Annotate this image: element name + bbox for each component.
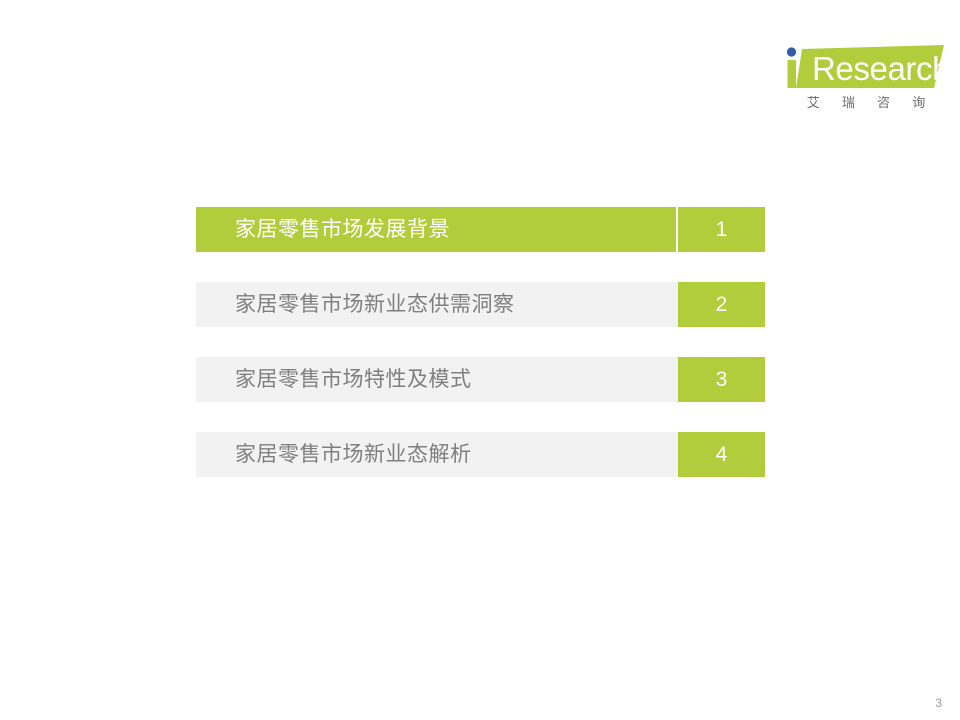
toc-item-label: 家居零售市场发展背景 bbox=[196, 207, 676, 252]
logo-wordmark: Research bbox=[812, 50, 947, 87]
toc-row[interactable]: 家居零售市场特性及模式 3 bbox=[196, 357, 765, 402]
toc-item-number: 2 bbox=[678, 282, 765, 327]
logo-subtitle: 艾 瑞 咨 询 bbox=[790, 92, 942, 111]
toc-item-number: 3 bbox=[678, 357, 765, 402]
toc-row[interactable]: 家居零售市场发展背景 1 bbox=[196, 207, 765, 252]
toc-item-label: 家居零售市场新业态供需洞察 bbox=[196, 282, 676, 327]
toc-item-label: 家居零售市场特性及模式 bbox=[196, 357, 676, 402]
table-of-contents: 家居零售市场发展背景 1 家居零售市场新业态供需洞察 2 家居零售市场特性及模式… bbox=[196, 207, 765, 477]
iresearch-logo: Research 艾 瑞 咨 询 bbox=[782, 42, 947, 114]
toc-item-number: 1 bbox=[678, 207, 765, 252]
toc-row[interactable]: 家居零售市场新业态解析 4 bbox=[196, 432, 765, 477]
toc-item-label: 家居零售市场新业态解析 bbox=[196, 432, 676, 477]
page-number: 3 bbox=[935, 696, 942, 710]
toc-row[interactable]: 家居零售市场新业态供需洞察 2 bbox=[196, 282, 765, 327]
toc-item-number: 4 bbox=[678, 432, 765, 477]
slide-canvas: Research 艾 瑞 咨 询 家居零售市场发展背景 1 家居零售市场新业态供… bbox=[0, 0, 960, 720]
iresearch-logo-icon: Research bbox=[782, 42, 947, 92]
